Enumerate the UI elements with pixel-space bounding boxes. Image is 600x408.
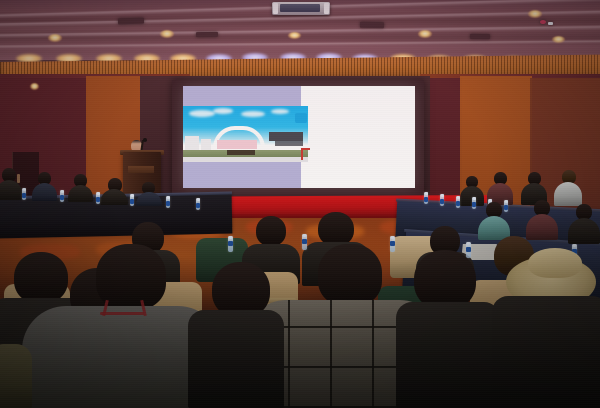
projection-screen [183,86,415,188]
ceiling-downlight [48,34,62,42]
ceiling-projector [272,2,330,15]
building-block [185,136,199,150]
cloud-shape [271,109,289,114]
projector-mount [324,3,329,14]
building-block-dark [275,140,303,146]
ceiling-downlight [418,30,432,38]
lanyard-strap [100,312,144,315]
ceiling-downlight [160,30,174,38]
water-bottle [440,194,444,206]
attendee-body [526,214,558,240]
ceiling-downlight [288,32,301,39]
water-bottle [302,234,307,250]
attendee-body [188,310,284,408]
building-block [201,139,211,150]
photo-road-strip [183,157,308,162]
attendee-body [492,296,600,408]
photo-text-blur [227,150,255,155]
water-bottle [166,196,170,208]
cloud-shape [241,111,265,117]
attendee-body [396,302,500,408]
water-bottle [228,236,233,252]
lectern-front-panel [128,166,154,173]
water-bottle [390,236,395,252]
projector-lens-icon [280,4,320,12]
ceiling-downlight [552,36,565,43]
ceiling-vent [470,34,490,39]
water-bottle [60,190,64,202]
ceiling-vent [360,22,384,28]
ceiling-downlight [528,10,542,18]
water-bottle [466,242,471,258]
attendee-head [14,252,68,304]
slide-photo-image [183,106,308,162]
cloud-shape [189,110,215,117]
attendee-body [568,218,600,244]
attendee-head [256,216,286,246]
projector-mount [273,3,278,14]
wall-sconce-light [30,83,39,90]
water-bottle [424,192,428,204]
attendee-head [414,250,476,310]
straw-hat-crown [528,248,582,278]
building-block [217,140,257,149]
conference-hall-photograph: Wide photograph taken from the back of a… [0,0,600,408]
microphone-icon [143,138,147,142]
slide-badge-icon [295,113,307,123]
ceiling-beam [0,40,600,49]
water-bottle [504,200,508,212]
water-bottle [96,192,100,204]
attendee-body [32,183,57,201]
smoke-detector-icon [540,20,546,24]
attendee-body [0,344,32,408]
slide-right-panel [301,86,415,188]
ceiling-vent [548,22,553,25]
door-handle[interactable] [17,174,20,183]
water-bottle [456,196,460,208]
slide-corner-mark-icon [301,148,310,160]
ceiling-vent [118,18,144,25]
water-bottle [472,197,476,209]
attendee-body [554,182,582,206]
water-bottle [196,198,200,210]
water-bottle [22,188,26,200]
cloud-shape [213,108,233,114]
attendee-head [318,244,382,306]
attendee-head [318,212,354,246]
ceiling-vent [196,32,218,37]
water-bottle [130,194,134,206]
